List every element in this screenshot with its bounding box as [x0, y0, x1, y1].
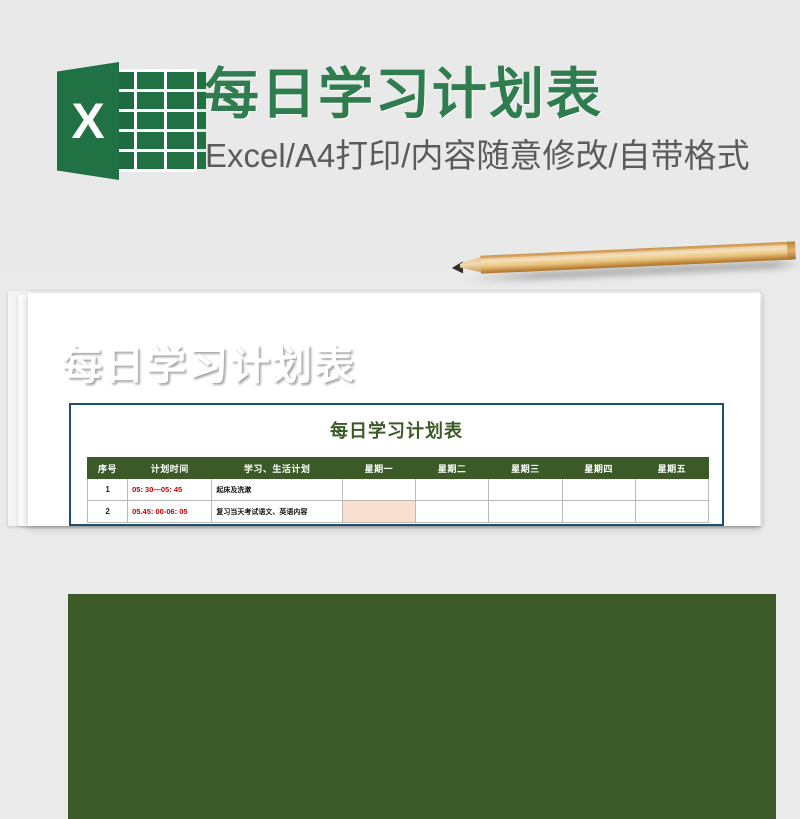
- page-title: 每日学习计划表: [204, 59, 779, 129]
- plan-table: 序号 计划时间 学习、生活计划 星期一 星期二 星期三 星期四 星期五 1 05…: [87, 457, 709, 523]
- cell-monday[interactable]: [342, 479, 415, 501]
- table-header-row: 序号 计划时间 学习、生活计划 星期一 星期二 星期三 星期四 星期五: [88, 458, 709, 479]
- excel-logo-sheet-frame: [115, 69, 197, 172]
- cell-wednesday[interactable]: [489, 501, 562, 523]
- excel-logo-letter: X: [57, 62, 119, 180]
- sheet-title: 每日学习计划表: [71, 417, 722, 443]
- cell-monday[interactable]: [342, 501, 415, 523]
- col-header-plan: 学习、生活计划: [212, 458, 342, 479]
- cell-tuesday[interactable]: [416, 479, 489, 501]
- cell-friday[interactable]: [635, 501, 708, 523]
- cell-thursday[interactable]: [562, 479, 635, 501]
- cell-index: 1: [88, 479, 128, 501]
- top-banner: X 每日学习计划表 Excel/A4打印/内容随意修改/自带格式: [0, 0, 800, 268]
- col-header-index: 序号: [88, 458, 128, 479]
- cell-plan[interactable]: 复习当天考试语文、英语内容: [212, 501, 342, 523]
- cell-thursday[interactable]: [562, 501, 635, 523]
- cell-plan[interactable]: 起床及洗漱: [212, 479, 342, 501]
- cell-tuesday[interactable]: [416, 501, 489, 523]
- cell-wednesday[interactable]: [489, 479, 562, 501]
- col-header-monday: 星期一: [342, 458, 415, 479]
- table-row[interactable]: 2 05.45: 00-06: 05 复习当天考试语文、英语内容: [88, 501, 709, 523]
- excel-logo: X: [57, 62, 197, 180]
- preview-card-body: [68, 594, 776, 819]
- col-header-wednesday: 星期三: [489, 458, 562, 479]
- page-subtitle: Excel/A4打印/内容随意修改/自带格式: [205, 133, 785, 179]
- col-header-tuesday: 星期二: [416, 458, 489, 479]
- cell-friday[interactable]: [635, 479, 708, 501]
- preview-card-heading: 每日学习计划表: [62, 333, 356, 391]
- cell-index: 2: [88, 501, 128, 523]
- col-header-thursday: 星期四: [562, 458, 635, 479]
- col-header-time: 计划时间: [128, 458, 212, 479]
- pencil-end: [787, 241, 796, 259]
- col-header-friday: 星期五: [635, 458, 708, 479]
- cell-time[interactable]: 05.45: 00-06: 05: [128, 501, 212, 523]
- cell-time[interactable]: 05: 30—05: 45: [128, 479, 212, 501]
- table-row[interactable]: 1 05: 30—05: 45 起床及洗漱: [88, 479, 709, 501]
- spreadsheet-preview[interactable]: 每日学习计划表 序号 计划时间 学习、生活计划 星期一 星期二 星期三 星期四 …: [69, 403, 724, 526]
